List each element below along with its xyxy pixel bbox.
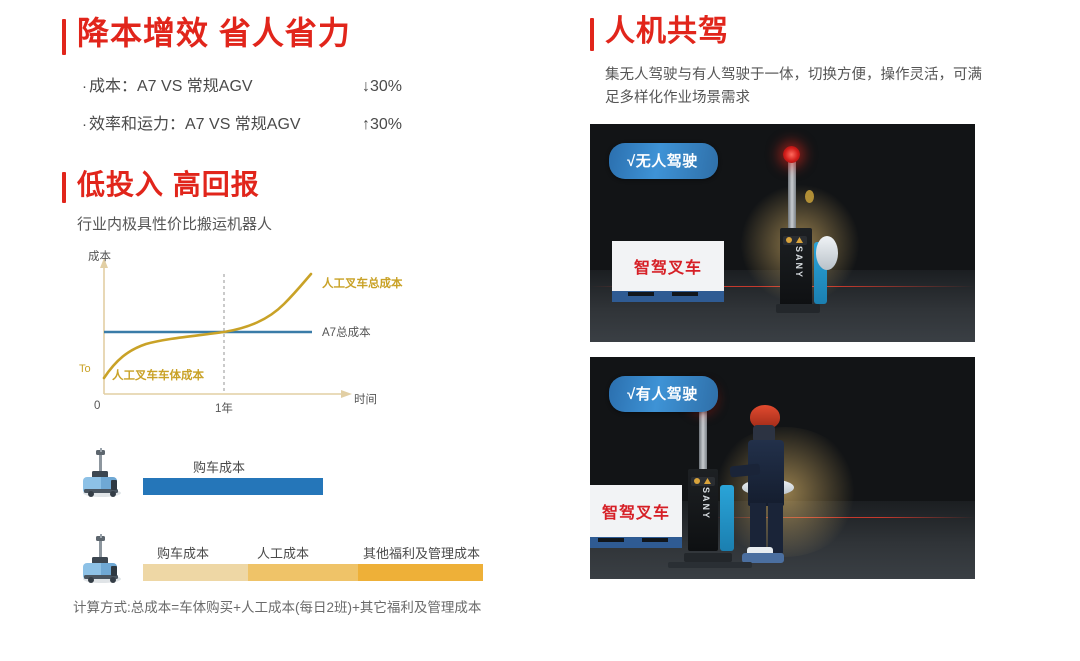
bar-row-manual: 购车成本 人工成本 其他福利及管理成本: [75, 531, 525, 593]
worker-leg: [768, 503, 783, 553]
bullet-item-cost: · 成本：A7 VS 常规AGV ↓30%: [82, 72, 402, 96]
tiller-handle: [816, 236, 838, 270]
calculation-footnote: 计算方式:总成本=车体购买+人工成本(每日2班)+其它福利及管理成本: [73, 596, 481, 616]
bar-caption-labor-cost: 人工成本: [257, 543, 309, 562]
warning-beacon-icon: [783, 146, 800, 163]
bar-segment-welfare-cost: [358, 564, 483, 581]
bar-segment-purchase-cost: [143, 564, 248, 581]
signboard-text: 智驾叉车: [634, 254, 702, 278]
red-accent-bar-icon: [62, 172, 66, 203]
slide-root: 降本增效 省人省力 · 成本：A7 VS 常规AGV ↓30% · 效率和运力：…: [0, 0, 1080, 661]
right-column: 人机共驾 集无人驾驶与有人驾驶于一体，切换方便，操作灵活，可满足多样化作业场景需…: [590, 17, 990, 110]
manual-forklift-cost-curve: [104, 274, 311, 378]
fork-base: [776, 304, 820, 313]
bar-caption-welfare-cost: 其他福利及管理成本: [363, 543, 480, 562]
red-accent-bar-icon: [62, 19, 66, 55]
bar-caption-purchase-cost: 购车成本: [193, 457, 245, 476]
red-accent-bar-icon: [590, 18, 594, 51]
origin-label: To: [79, 363, 91, 375]
left-column: 降本增效 省人省力 · 成本：A7 VS 常规AGV ↓30% · 效率和运力：…: [62, 17, 532, 413]
bullet-value: ↑30%: [344, 116, 402, 134]
brand-logo: SANY: [701, 487, 711, 520]
forklift-icon: [75, 447, 129, 499]
bar-track-manual: [143, 564, 483, 581]
bullet-value: ↓30%: [344, 78, 402, 96]
panel-light-icon: [786, 237, 792, 243]
badge-autonomous: √无人驾驶: [609, 143, 718, 179]
fork-base: [684, 553, 732, 562]
signboard-text: 智驾叉车: [602, 499, 670, 523]
worker-leg: [750, 503, 766, 553]
bullet-item-efficiency: · 效率和运力：A7 VS 常规AGV ↑30%: [82, 110, 402, 134]
y-axis-label: 成本: [88, 248, 111, 264]
section-heading-cost-efficiency: 降本增效 省人省力: [62, 17, 532, 55]
bullet-dot-icon: ·: [82, 78, 87, 95]
section-description: 集无人驾驶与有人驾驶于一体，切换方便，操作灵活，可满足多样化作业场景需求: [605, 64, 987, 110]
pallet-slot: [628, 292, 654, 296]
forklift-icon: [75, 533, 129, 585]
cost-breakdown-bars: 购车成本 购车成本 人工成本 其他福利及管理成本: [75, 445, 525, 593]
pallet-slot: [642, 538, 668, 542]
series-label-body-cost: 人工叉车车体成本: [112, 367, 204, 383]
x-tick-0: 0: [94, 400, 100, 412]
heading-text: 降本增效 省人省力: [77, 17, 351, 49]
bullet-dot-icon: ·: [82, 116, 87, 133]
heading-text: 低投入 高回报: [77, 171, 260, 199]
pallet-slot: [672, 292, 698, 296]
bar-row-a7: 购车成本: [75, 445, 525, 507]
bullet-label: 成本：A7 VS 常规AGV: [89, 72, 253, 96]
series-label-a7-total: A7总成本: [322, 324, 371, 340]
section-heading-low-investment: 低投入 高回报: [62, 171, 532, 203]
panel-light-icon: [694, 478, 700, 484]
fork-tine: [668, 562, 752, 568]
bar-caption-purchase-cost: 购车成本: [157, 543, 209, 562]
section-heading-human-machine: 人机共驾: [590, 17, 990, 51]
bullet-label: 效率和运力：A7 VS 常规AGV: [89, 110, 301, 134]
section-subtitle: 行业内极具性价比搬运机器人: [77, 213, 532, 234]
badge-manned: √有人驾驶: [609, 376, 718, 412]
pallet-slot: [598, 538, 624, 542]
series-label-manual-total: 人工叉车总成本: [322, 275, 403, 291]
cost-comparison-line-chart: 成本 人工叉车总成本 A7总成本 人工叉车车体成本 To 时间 0 1年: [72, 248, 492, 413]
x-axis-label: 时间: [354, 391, 377, 407]
brand-logo: SANY: [794, 246, 804, 279]
photo-manned-driving: SANY 智驾叉车 √有人驾驶: [590, 357, 975, 579]
bar-track-a7: [143, 478, 323, 495]
x-axis-arrow-icon: [341, 390, 352, 398]
x-tick-1year: 1年: [215, 400, 233, 416]
bar-segment-labor-cost: [248, 564, 358, 581]
heading-text: 人机共驾: [605, 17, 729, 47]
signboard: 智驾叉车: [612, 241, 724, 291]
chart-svg: [72, 248, 492, 413]
photo-autonomous-driving: SANY 智驾叉车 √无人驾驶: [590, 124, 975, 342]
bullet-list: · 成本：A7 VS 常规AGV ↓30% · 效率和运力：A7 VS 常规AG…: [82, 72, 532, 134]
signboard: 智驾叉车: [590, 485, 682, 537]
bar-segment-purchase-cost: [143, 478, 323, 495]
indicator-light-icon: [805, 190, 814, 203]
tiller-arm: [720, 485, 734, 551]
